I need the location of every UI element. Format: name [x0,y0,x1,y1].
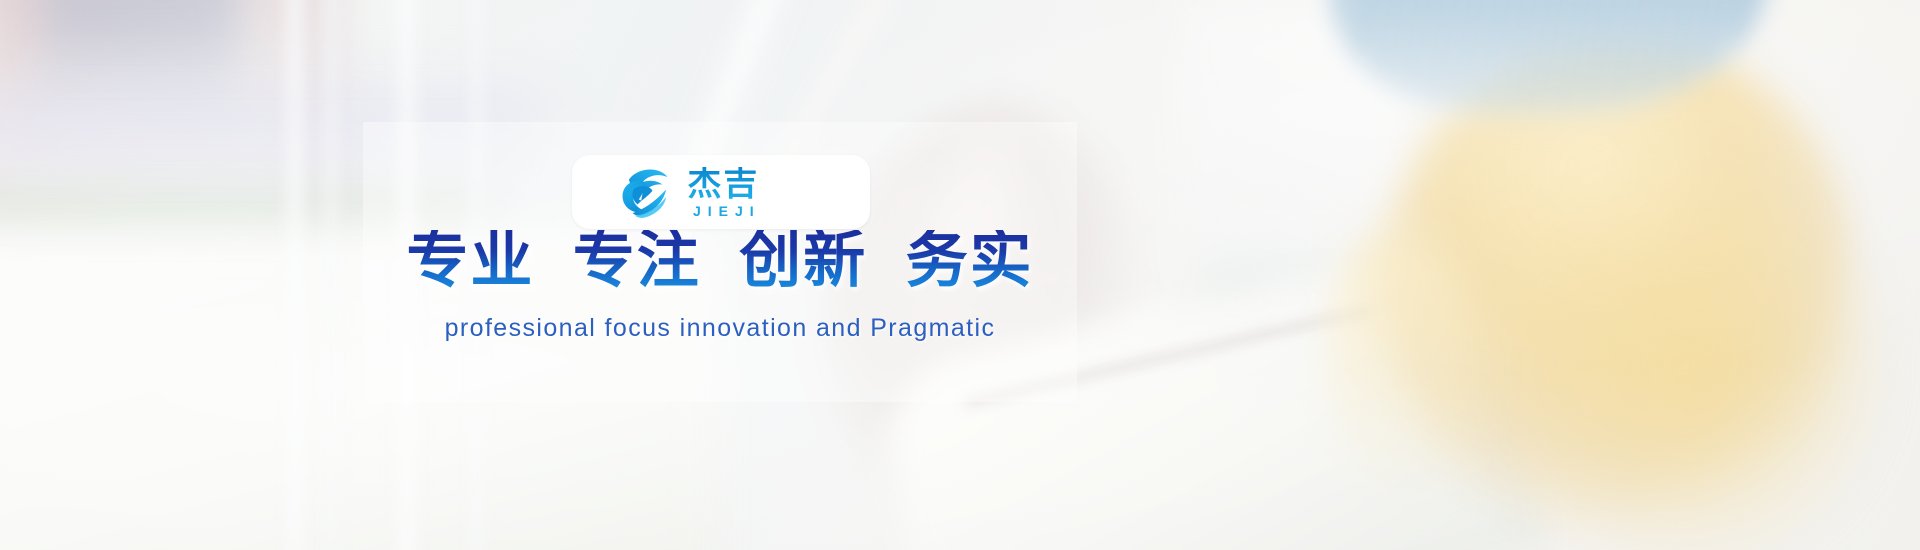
brand-name-cn: 杰吉 [687,167,759,201]
slogan-headline-cn: 专业 专注 创新 务实 [363,230,1077,292]
slogan-subline-en: professional focus innovation and Pragma… [363,314,1077,343]
brand-name-en: JIEJI [686,204,761,218]
brand-wordmark: 杰吉 JIEJI [686,167,761,218]
slogan-panel: 杰吉 JIEJI 专业 专注 创新 务实 professional focus … [363,122,1077,402]
brand-logo-plate[interactable]: 杰吉 JIEJI [572,155,870,229]
hero-banner: 杰吉 JIEJI 专业 专注 创新 务实 professional focus … [0,0,1920,550]
jieji-swirl-wave-mark-icon [614,161,676,223]
